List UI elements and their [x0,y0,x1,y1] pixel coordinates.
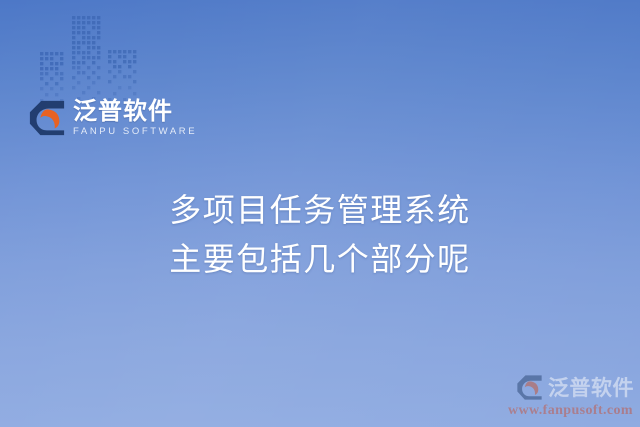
fanpu-logo-mark-icon [28,99,66,137]
pixel-cityscape-icon [38,12,168,108]
headline: 多项目任务管理系统 主要包括几个部分呢 [0,186,640,283]
brand-wordmark: 泛普软件 FANPU SOFTWARE [73,99,197,137]
watermark-logo: 泛普软件 [516,372,634,402]
headline-line-2: 主要包括几个部分呢 [0,235,640,284]
watermark-url: www.fanpusoft.com [508,403,633,419]
fanpu-watermark-mark-icon [516,374,543,401]
brand-name-cn: 泛普软件 [73,99,197,123]
promo-banner: 泛普软件 FANPU SOFTWARE 多项目任务管理系统 主要包括几个部分呢 … [0,0,640,427]
watermark: 泛普软件 www.fanpusoft.com [508,372,634,419]
watermark-name-cn: 泛普软件 [548,372,634,402]
brand-logo: 泛普软件 FANPU SOFTWARE [28,99,197,137]
headline-line-1: 多项目任务管理系统 [0,186,640,235]
brand-name-en: FANPU SOFTWARE [73,127,197,137]
